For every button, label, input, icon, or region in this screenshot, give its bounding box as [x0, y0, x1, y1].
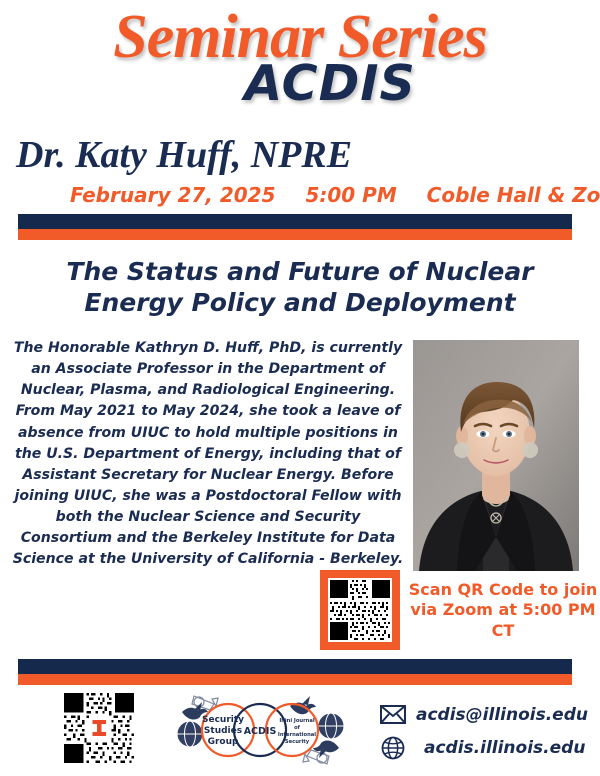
globe-icon — [378, 733, 408, 763]
venn-right-line-1: Illini Journal — [279, 718, 314, 724]
portrait-image — [413, 340, 579, 571]
globe-icon — [318, 713, 344, 739]
talk-title: The Status and Future of Nuclear Energy … — [20, 257, 580, 318]
venn-right-line-3: International — [278, 732, 316, 738]
contact-website-value: acdis.illinois.edu — [424, 738, 585, 758]
qr-pattern — [328, 578, 392, 642]
zoom-join-qr-code[interactable] — [320, 570, 400, 650]
event-details: February 27, 2025 5:00 PM Coble Hall & Z… — [0, 183, 600, 207]
acdis-wordmark: ACDIS — [0, 59, 600, 108]
contact-email-value: acdis@illinois.edu — [416, 705, 588, 725]
venn-center-label: ACDIS — [244, 726, 277, 737]
venn-left-line-1: Security — [202, 715, 244, 725]
scan-line-2: via Zoom at 5:00 PM CT — [406, 600, 600, 641]
scan-line-1: Scan QR Code to join — [406, 580, 600, 600]
venn-right-line-2: of — [294, 725, 301, 731]
divider-bar-orange — [18, 229, 572, 240]
acdis-website-qr-code[interactable] — [63, 692, 135, 764]
divider-bars-bottom — [18, 659, 572, 685]
speaker-name: Dr. Katy Huff, NPRE — [16, 136, 584, 176]
qr-pattern — [63, 692, 135, 764]
divider-bar-orange — [18, 674, 572, 685]
qr-matrix — [328, 578, 392, 642]
event-date: February 27, 2025 — [70, 183, 276, 207]
globe-icon — [177, 721, 203, 747]
speaker-bio: The Honorable Kathryn D. Huff, PhD, is c… — [10, 338, 406, 571]
divider-bar-navy — [18, 659, 572, 674]
acdis-logo-graphic: Security Studies Group ACDIS Illini Jour… — [168, 690, 353, 770]
event-time: 5:00 PM — [305, 183, 396, 207]
acdis-venn-logo: Security Studies Group ACDIS Illini Jour… — [168, 690, 353, 770]
seminar-poster: Seminar Series ACDIS Dr. Katy Huff, NPRE… — [0, 0, 600, 776]
divider-bar-navy — [18, 214, 572, 229]
scan-qr-instruction: Scan QR Code to join via Zoom at 5:00 PM… — [406, 580, 600, 641]
speaker-portrait — [413, 340, 579, 571]
contact-website-row[interactable]: acdis.illinois.edu — [378, 731, 600, 764]
contact-email-row[interactable]: acdis@illinois.edu — [378, 698, 600, 731]
divider-bars-top — [18, 214, 572, 240]
venn-right-line-4: Security — [285, 739, 310, 745]
venn-left-line-2: Studies — [204, 726, 242, 736]
venn-left-line-3: Group — [208, 737, 239, 747]
contact-info: acdis@illinois.edu acdis.illinois.edu — [378, 698, 600, 764]
event-location: Coble Hall & Zoom — [427, 183, 600, 207]
poster-header: Seminar Series ACDIS — [0, 0, 600, 135]
envelope-icon — [378, 700, 408, 730]
